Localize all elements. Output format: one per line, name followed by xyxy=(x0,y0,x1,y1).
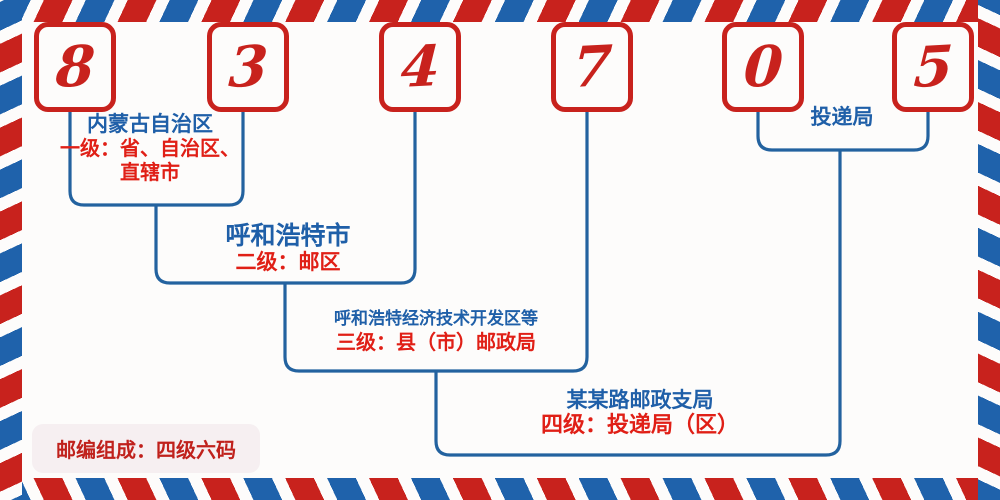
postcode-digit-box-1: 8 xyxy=(34,22,116,112)
airmail-border-right xyxy=(978,0,1000,500)
annotation-level-3: 呼和浩特经济技术开发区等 三级：县（市）邮政局 xyxy=(286,310,586,353)
annotation-level-3-level: 三级：县（市）邮政局 xyxy=(286,331,586,353)
annotation-level-2: 呼和浩特市 二级：邮区 xyxy=(162,222,414,275)
airmail-border-left xyxy=(0,0,22,500)
postcode-digit-box-3: 4 xyxy=(379,22,461,112)
postcode-infographic: 8 3 4 7 0 5 内蒙古自治区 一级：省、自治区、直辖市 呼和浩特市 二级… xyxy=(0,0,1000,500)
postcode-digit-1: 8 xyxy=(54,38,96,96)
annotation-level-2-name: 呼和浩特市 xyxy=(162,222,414,250)
annotation-level-1-name: 内蒙古自治区 xyxy=(58,112,242,136)
legend-badge: 邮编组成：四级六码 xyxy=(32,424,260,473)
legend-badge-text: 邮编组成：四级六码 xyxy=(56,438,236,462)
airmail-stripe-pattern-top xyxy=(0,0,1000,22)
annotation-level-4: 某某路邮政支局 四级：投递局（区） xyxy=(450,388,830,438)
postcode-digit-4: 7 xyxy=(571,38,613,96)
airmail-border-top xyxy=(0,0,1000,22)
annotation-level-2-level: 二级：邮区 xyxy=(162,251,414,275)
airmail-stripe-pattern-left xyxy=(0,0,22,500)
annotation-level-1: 内蒙古自治区 一级：省、自治区、直辖市 xyxy=(58,112,242,184)
postcode-digit-box-6: 5 xyxy=(892,22,974,112)
annotation-level-1-level: 一级：省、自治区、直辖市 xyxy=(58,136,242,184)
postcode-digit-box-4: 7 xyxy=(551,22,633,112)
postcode-digit-box-2: 3 xyxy=(207,22,289,112)
airmail-stripe-pattern-right xyxy=(978,0,1000,500)
postcode-digit-box-5: 0 xyxy=(722,22,804,112)
postcode-digit-3: 4 xyxy=(399,38,441,96)
postcode-digit-2: 3 xyxy=(227,38,269,96)
airmail-border-bottom xyxy=(0,478,1000,500)
annotation-level-3-name: 呼和浩特经济技术开发区等 xyxy=(286,310,586,329)
annotation-level-4-name: 某某路邮政支局 xyxy=(450,388,830,412)
airmail-stripe-pattern-bottom xyxy=(0,478,1000,500)
postcode-digit-6: 5 xyxy=(912,38,954,96)
annotation-level-4-level: 四级：投递局（区） xyxy=(450,414,830,439)
postcode-digit-5: 0 xyxy=(742,38,784,96)
